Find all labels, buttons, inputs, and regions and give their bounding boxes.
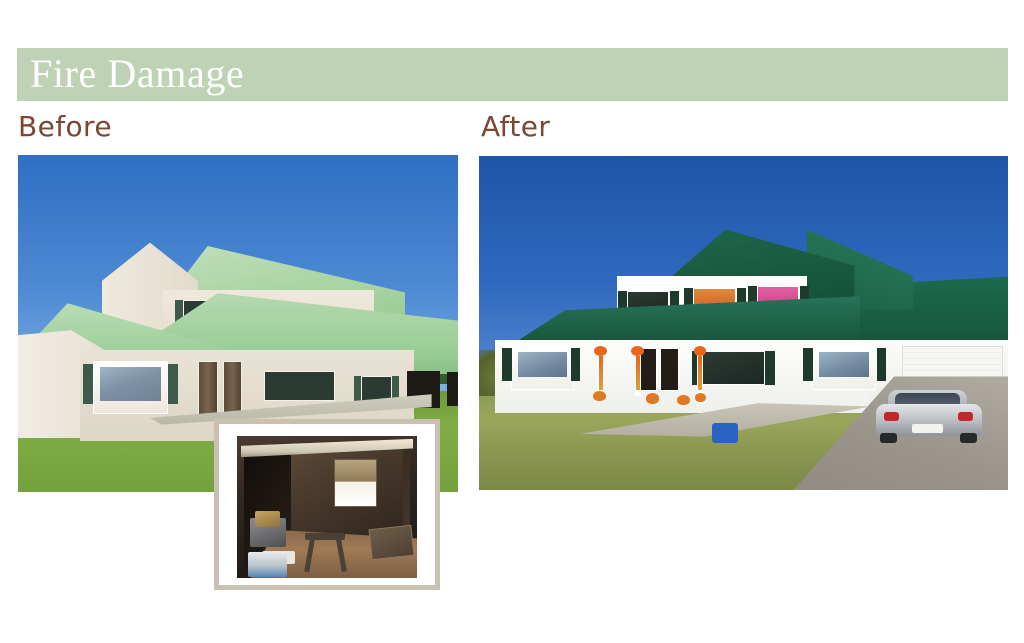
bay-window-right bbox=[812, 346, 875, 389]
caption-after: After bbox=[481, 110, 550, 143]
inset-frame bbox=[214, 419, 440, 590]
inset-mat bbox=[219, 424, 435, 585]
car-tire-left bbox=[880, 433, 897, 444]
front-door-left bbox=[198, 361, 218, 418]
streamer bbox=[636, 356, 640, 389]
debris-box bbox=[255, 511, 280, 527]
car-tire-right bbox=[960, 433, 977, 444]
streamer bbox=[599, 356, 603, 389]
shutter bbox=[803, 348, 813, 381]
shutter bbox=[877, 348, 887, 381]
front-door-right bbox=[660, 348, 679, 391]
streamer bbox=[698, 356, 702, 389]
storage-bin bbox=[248, 552, 288, 576]
sawhorse-leg bbox=[336, 539, 346, 573]
tricycle bbox=[712, 423, 738, 443]
car-license-plate bbox=[912, 424, 944, 433]
shutter bbox=[765, 351, 775, 384]
bay-window-glass bbox=[518, 352, 567, 378]
shutter bbox=[83, 364, 93, 404]
car-taillight-left bbox=[884, 412, 899, 421]
shutter bbox=[571, 348, 581, 381]
caption-before: Before bbox=[18, 110, 112, 143]
slide: Fire Damage Before After bbox=[0, 0, 1024, 643]
shutter bbox=[168, 364, 178, 404]
shutter bbox=[502, 348, 512, 381]
photo-after bbox=[479, 156, 1008, 490]
debris-plywood bbox=[369, 525, 415, 561]
sawhorse-leg bbox=[304, 539, 314, 573]
front-door-right bbox=[223, 361, 243, 418]
window-lower-1 bbox=[701, 351, 764, 384]
after-scene bbox=[479, 156, 1008, 490]
pumpkin bbox=[677, 395, 690, 405]
shutter bbox=[354, 376, 361, 403]
bay-window-glass bbox=[819, 352, 868, 378]
car-taillight-right bbox=[958, 412, 973, 421]
window-lower-1 bbox=[264, 371, 334, 401]
back-window bbox=[334, 459, 377, 507]
bay-window bbox=[93, 361, 168, 415]
garage-opening-2 bbox=[447, 372, 458, 406]
sawhorse bbox=[305, 533, 345, 573]
inset-photo-fire-damage bbox=[237, 436, 417, 578]
page-title: Fire Damage bbox=[30, 45, 730, 103]
parked-car bbox=[876, 390, 982, 443]
bay-window bbox=[511, 346, 574, 389]
pumpkin bbox=[646, 393, 660, 404]
bay-window-glass bbox=[100, 367, 161, 401]
